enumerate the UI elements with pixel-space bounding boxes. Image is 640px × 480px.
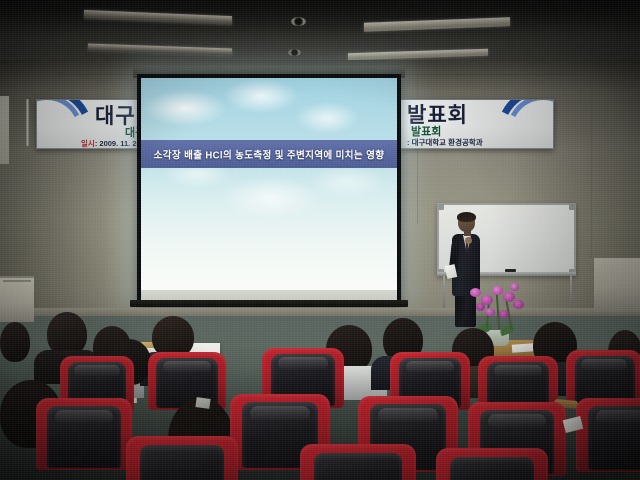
slide-background-haze [141, 78, 397, 302]
seat [436, 448, 548, 480]
audience-head [0, 322, 30, 362]
slide-title: 소각장 배출 HCl의 농도측정 및 주변지역에 미치는 영향 [154, 146, 385, 161]
radiator-right [594, 258, 640, 312]
slide-title-band: 소각장 배출 HCl의 농도측정 및 주변지역에 미치는 영향 [141, 140, 397, 168]
radiator-grill [3, 280, 31, 282]
ceiling-speaker-icon [288, 49, 301, 56]
seat-back-panel [450, 457, 534, 480]
orchid-bloom [470, 288, 481, 297]
seat-highlight [378, 408, 438, 423]
banner-swoosh-icon [491, 100, 553, 148]
banner-right: 발표회 발표회 : 대구대학교 환경공학과 [400, 99, 554, 149]
org-line: : 대구대학교 환경공학과 [407, 138, 483, 147]
seat-highlight [74, 365, 120, 377]
screen-bottom-bar [130, 300, 408, 307]
orchid-bloom [499, 310, 509, 318]
seat-back-panel [140, 445, 224, 480]
screen-surface: 소각장 배출 HCl의 농도측정 및 주변지역에 미치는 영향 [141, 78, 397, 302]
projection-screen: 소각장 배출 HCl의 농도측정 및 주변지역에 미치는 영향 [137, 74, 401, 306]
seat-highlight [250, 406, 310, 421]
seat [126, 436, 238, 480]
orchid-bloom [492, 286, 503, 295]
seat-highlight [278, 357, 328, 370]
seat-highlight [488, 414, 546, 428]
seat-highlight [596, 410, 640, 424]
audience-handout [195, 397, 210, 409]
presenter-legs [455, 293, 476, 327]
date-label: 일시 [81, 139, 95, 148]
banner-right-title: 발표회 [407, 105, 468, 126]
seat-highlight [494, 365, 542, 377]
seat [300, 444, 416, 480]
auditorium-photo: 대구대 대구 일시: 2009. 11. 20(금 발표회 발표회 : 대구대학… [0, 0, 640, 480]
wall-notice [0, 96, 9, 164]
wall-seam [417, 74, 418, 224]
orchid-bloom [510, 283, 519, 291]
seat-highlight [406, 361, 454, 373]
wall-pipe [26, 99, 29, 146]
wall-seam [591, 78, 592, 258]
whiteboard-marker [505, 269, 516, 272]
whiteboard-corner [569, 204, 575, 210]
banner-right-org: : 대구대학교 환경공학과 [407, 139, 483, 147]
seat-back-panel [314, 453, 402, 480]
seat-highlight [163, 361, 211, 373]
seat [36, 398, 132, 470]
orchid-bloom [503, 292, 515, 302]
table-papers [512, 343, 535, 353]
seat-highlight [55, 410, 113, 424]
radiator-left [0, 276, 34, 322]
seat-highlight [581, 359, 627, 371]
banner-right-subtitle: 발표회 [411, 127, 441, 138]
whiteboard-corner [438, 204, 444, 210]
orchid-bloom [513, 300, 524, 309]
presenter-hair [457, 212, 476, 222]
ceiling-speaker-icon [291, 17, 306, 26]
seat [576, 398, 640, 472]
orchid-bloom [476, 303, 485, 311]
presenter-hand [465, 237, 472, 244]
orchid-bloom [485, 308, 495, 316]
